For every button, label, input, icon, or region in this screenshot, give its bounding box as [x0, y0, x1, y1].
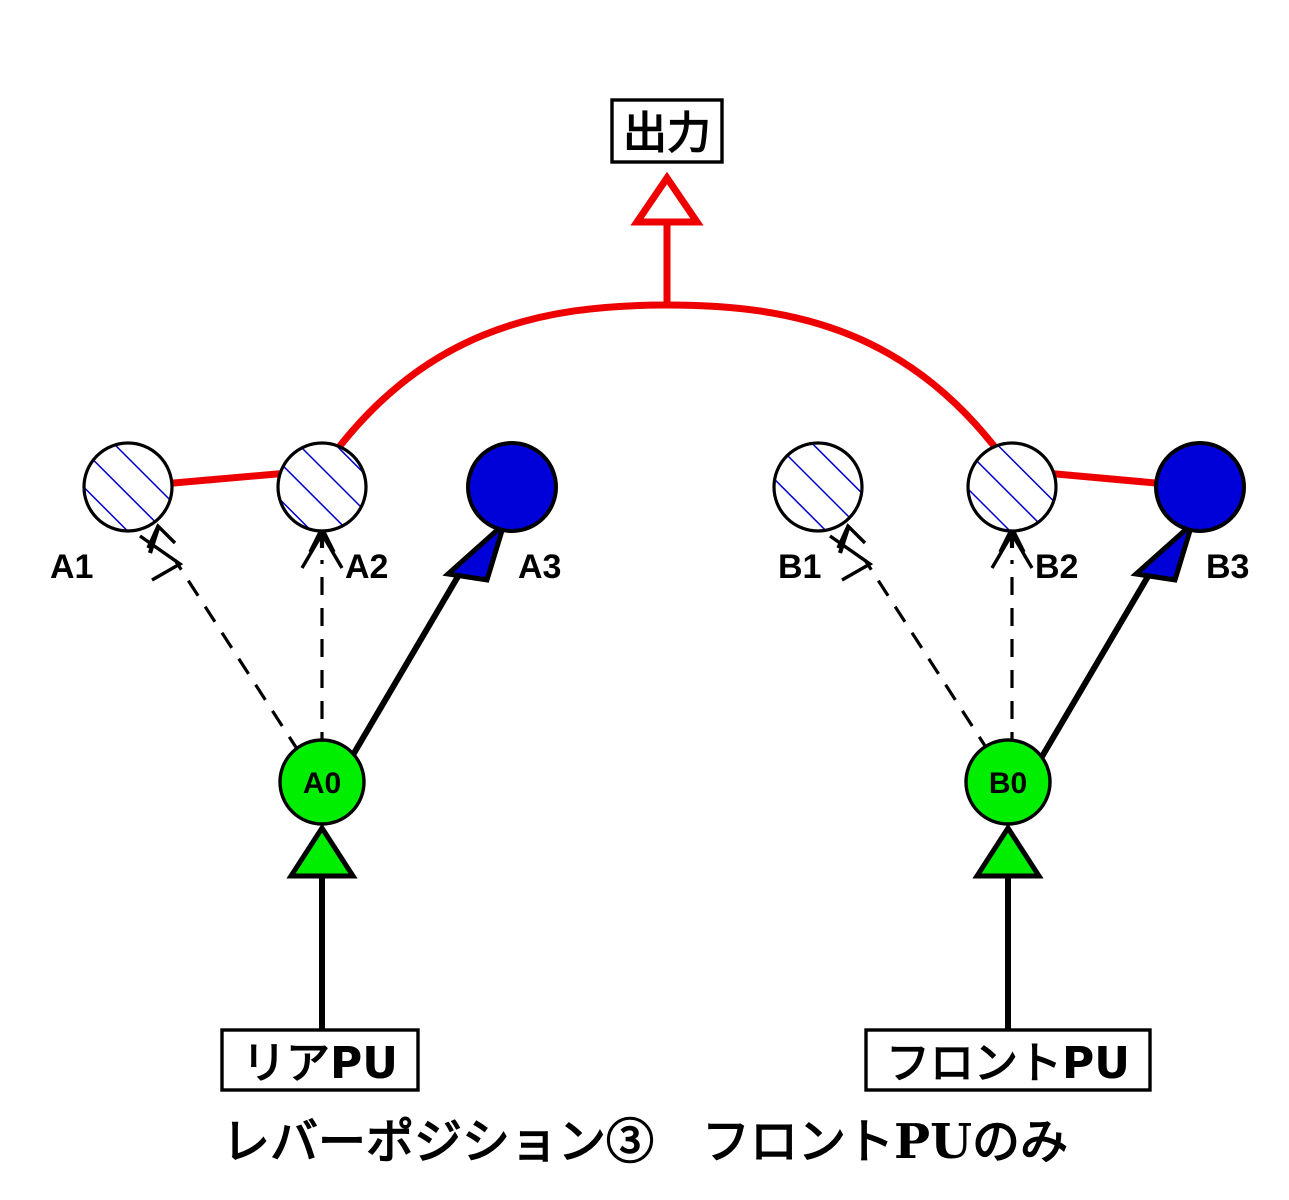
- red-signal-path-group: [128, 178, 1200, 487]
- node-a3-circle[interactable]: [468, 443, 556, 531]
- red-arc-top: [322, 305, 1012, 470]
- node-b2-circle[interactable]: [968, 443, 1056, 531]
- node-a2-circle[interactable]: [278, 443, 366, 531]
- node-b2-label: B2: [1035, 548, 1078, 586]
- link-a0-a1: [175, 560, 299, 752]
- output-box: 出力: [612, 100, 722, 162]
- group-b: B1 B2 B3 B0 フロントPU: [774, 443, 1249, 1090]
- link-b0-b1: [865, 560, 989, 752]
- rear-pu-box-label: リアPU: [242, 1038, 398, 1089]
- node-a3-label: A3: [518, 548, 561, 586]
- node-b1-circle[interactable]: [774, 443, 862, 531]
- diagram-caption: レバーポジション③ フロントPUのみ: [222, 1114, 1068, 1170]
- group-a: A1 A2 A3 A0 リアPU: [50, 443, 561, 1090]
- signal-routing-diagram: 出力 A1 A2 A3: [0, 0, 1289, 1200]
- b0-input-arrowhead: [977, 828, 1039, 876]
- node-a1-circle[interactable]: [84, 443, 172, 531]
- node-b3-label: B3: [1206, 548, 1249, 586]
- arrowhead-b3-filled: [1136, 524, 1192, 580]
- output-box-label: 出力: [623, 108, 711, 159]
- link-b0-b3: [1040, 556, 1160, 760]
- a0-input-arrowhead: [291, 828, 353, 876]
- node-a1-label: A1: [50, 548, 93, 586]
- front-pu-box-label: フロントPU: [886, 1038, 1130, 1089]
- node-b1-label: B1: [778, 548, 821, 586]
- red-output-arrowhead: [637, 178, 697, 222]
- node-a0-label: A0: [303, 767, 341, 800]
- arrowhead-a3-filled: [448, 524, 504, 580]
- node-b0-label: B0: [989, 767, 1027, 800]
- link-a0-a3: [350, 556, 470, 760]
- node-a2-label: A2: [345, 548, 388, 586]
- node-b3-circle[interactable]: [1156, 443, 1244, 531]
- diagram-canvas: 出力 A1 A2 A3: [0, 0, 1289, 1200]
